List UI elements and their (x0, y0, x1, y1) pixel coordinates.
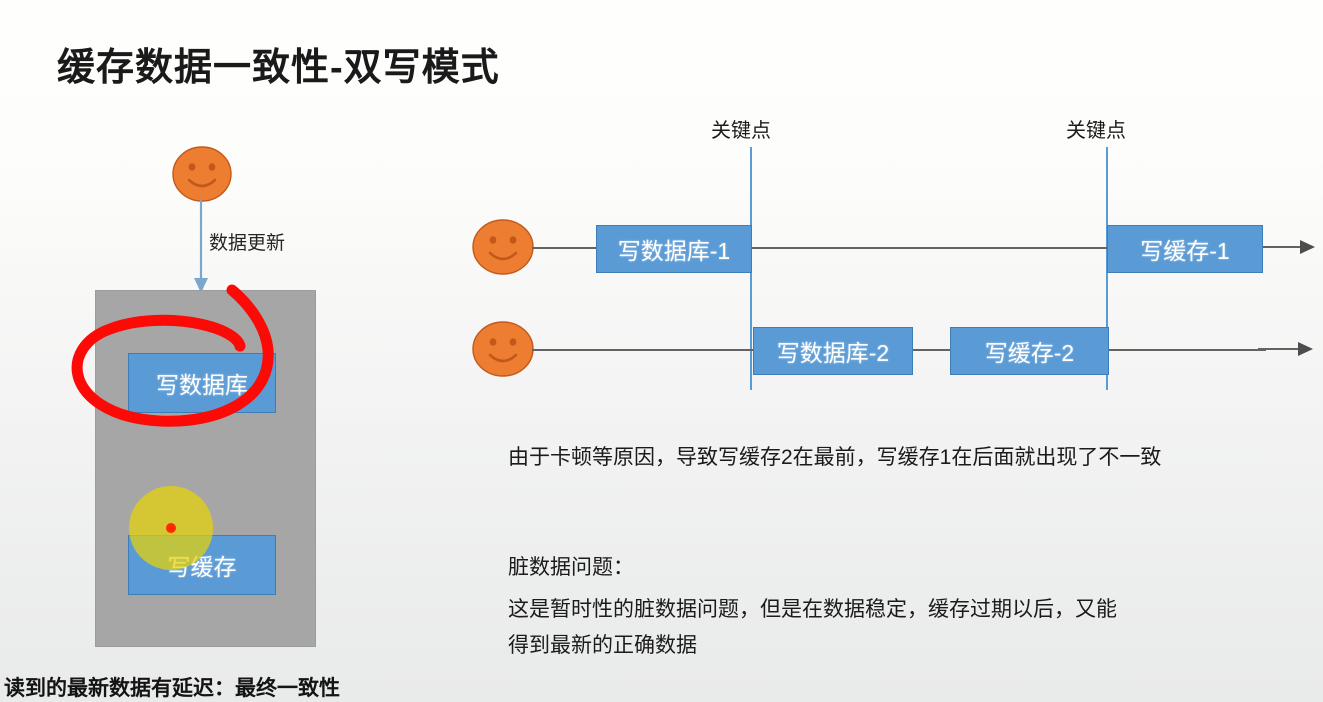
data-update-label: 数据更新 (209, 228, 285, 255)
lane-1-track-segment-a (532, 247, 598, 249)
lane-2-step-write-db[interactable]: 写数据库-2 (753, 327, 913, 375)
keypoint-label-2: 关键点 (1066, 114, 1126, 143)
lane-2-step-write-db-label: 写数据库-2 (777, 334, 889, 368)
lane-1-arrow-head-icon (1260, 238, 1316, 258)
dirty-data-heading: 脏数据问题： (508, 551, 634, 585)
lane-1-step-write-cache-label: 写缓存-1 (1140, 232, 1229, 266)
write-db-box[interactable]: 写数据库 (128, 353, 276, 413)
keypoint-label-1: 关键点 (711, 114, 771, 143)
write-db-box-label: 写数据库 (156, 366, 248, 400)
lane-1-track-segment-b (749, 247, 1113, 249)
lane-2-track-segment-c (1106, 349, 1266, 351)
lane-1-step-write-db-label: 写数据库-1 (618, 232, 730, 266)
lane-1-step-write-db[interactable]: 写数据库-1 (596, 225, 752, 273)
lane-2-track-segment-b (910, 349, 952, 351)
lane-2-arrow-head-icon (1258, 340, 1314, 360)
lane-2-step-write-cache-label: 写缓存-2 (985, 334, 1074, 368)
dirty-data-line-2: 得到最新的正确数据 (508, 629, 697, 663)
page-title: 缓存数据一致性-双写模式 (57, 36, 500, 91)
smiley-face-icon (472, 218, 534, 276)
lane-1-step-write-cache[interactable]: 写缓存-1 (1107, 225, 1263, 273)
left-bottom-note: 读到的最新数据有延迟：最终一致性 (4, 672, 340, 702)
lane-2-track-segment-a (532, 349, 754, 351)
slide-canvas: 缓存数据一致性-双写模式 数据更新 写数据库 写缓存 读到的最新数据有延迟：最终… (0, 0, 1323, 702)
dirty-data-line-1: 这是暂时性的脏数据问题，但是在数据稳定，缓存过期以后，又能 (508, 593, 1117, 627)
smiley-face-icon (172, 145, 232, 203)
laser-pointer-halo-icon (120, 478, 222, 580)
lane-2-step-write-cache[interactable]: 写缓存-2 (950, 327, 1109, 375)
explanation-text: 由于卡顿等原因，导致写缓存2在最前，写缓存1在后面就出现了不一致 (508, 441, 1161, 475)
smiley-face-icon (472, 320, 534, 378)
